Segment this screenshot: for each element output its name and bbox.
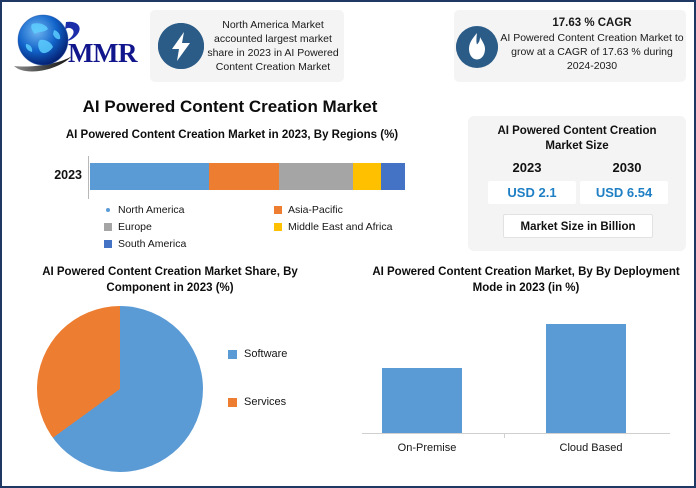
component-pie-legend: SoftwareServices [228, 348, 287, 444]
header-card-cagr: 17.63 % CAGR AI Powered Content Creation… [454, 10, 686, 82]
deployment-bar-on-premise [382, 368, 462, 433]
pie-legend-item: Services [228, 396, 287, 408]
header-card-north-america: North America Market accounted largest m… [150, 10, 344, 82]
regions-chart-title: AI Powered Content Creation Market in 20… [42, 128, 422, 143]
flame-icon [456, 26, 498, 68]
regions-segment-middle-east-and-africa [353, 163, 381, 190]
component-pie-title: AI Powered Content Creation Market Share… [10, 264, 330, 296]
pie-legend-item: Software [228, 348, 287, 360]
pie-graphic [37, 306, 203, 472]
component-pie-chart: AI Powered Content Creation Market Share… [10, 264, 350, 486]
regions-axis-category: 2023 [22, 168, 82, 182]
legend-swatch-icon [104, 223, 112, 231]
market-size-value-2030: USD 6.54 [580, 181, 668, 204]
deployment-bar-cloud-based [546, 324, 626, 433]
cagr-heading: 17.63 % CAGR [500, 16, 684, 30]
legend-swatch-icon [104, 240, 112, 248]
legend-swatch-icon [106, 208, 110, 212]
deployment-plot-area [362, 312, 670, 434]
regions-segment-asia-pacific [209, 163, 279, 190]
regions-legend-label: North America [118, 204, 185, 216]
market-size-value-2023: USD 2.1 [488, 181, 576, 204]
logo-text: MMR [68, 38, 137, 69]
header-card-1-text: North America Market accounted largest m… [206, 18, 340, 74]
pie-legend-label: Services [244, 396, 286, 408]
deployment-axis-tick [504, 433, 505, 438]
deployment-baseline [362, 433, 670, 434]
regions-legend-label: Asia-Pacific [288, 204, 343, 216]
legend-swatch-icon [274, 206, 282, 214]
header-card-2-text: 17.63 % CAGR AI Powered Content Creation… [500, 16, 684, 73]
header: MMR North America Market accounted large… [2, 2, 694, 90]
regions-chart: AI Powered Content Creation Market in 20… [12, 128, 452, 258]
pie-legend-label: Software [244, 348, 287, 360]
regions-legend-item: South America [104, 235, 274, 252]
regions-segment-north-america [90, 163, 209, 190]
market-size-unit: Market Size in Billion [503, 214, 653, 238]
legend-swatch-icon [228, 350, 237, 359]
infographic-root: MMR North America Market accounted large… [0, 0, 696, 488]
market-size-panel: AI Powered Content Creation Market Size … [468, 116, 686, 251]
regions-legend-label: Middle East and Africa [288, 221, 392, 233]
regions-legend: North AmericaAsia-PacificEuropeMiddle Ea… [104, 201, 444, 252]
deployment-category-on-premise: On-Premise [360, 442, 494, 454]
market-size-year-2030: 2030 [582, 160, 672, 175]
regions-segment-south-america [381, 163, 405, 190]
regions-segment-europe [279, 163, 353, 190]
regions-legend-item: Asia-Pacific [274, 201, 444, 218]
regions-legend-item: Europe [104, 218, 274, 235]
page-title: AI Powered Content Creation Market [2, 97, 458, 117]
deployment-bar-chart: AI Powered Content Creation Market, By B… [358, 264, 694, 486]
legend-swatch-icon [274, 223, 282, 231]
market-size-title: AI Powered Content Creation Market Size [478, 124, 676, 154]
mmr-logo: MMR [10, 10, 138, 78]
deployment-category-cloud-based: Cloud Based [524, 442, 658, 454]
regions-legend-label: South America [118, 238, 186, 250]
lightning-bolt-icon [158, 23, 204, 69]
deployment-chart-title: AI Powered Content Creation Market, By B… [366, 264, 686, 296]
regions-legend-item: North America [104, 201, 274, 218]
regions-legend-label: Europe [118, 221, 152, 233]
legend-swatch-icon [228, 398, 237, 407]
cagr-body: AI Powered Content Creation Market to gr… [500, 32, 683, 72]
regions-axis-line [88, 156, 89, 199]
market-size-year-2023: 2023 [482, 160, 572, 175]
regions-stacked-bar [90, 163, 405, 190]
regions-legend-item: Middle East and Africa [274, 218, 444, 235]
